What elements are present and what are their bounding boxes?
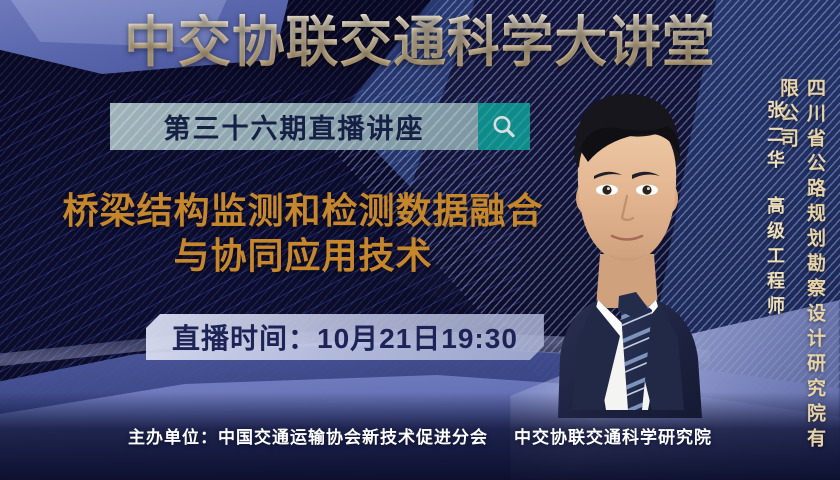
search-button[interactable] (478, 103, 530, 150)
episode-label: 第三十六期直播讲座 (164, 107, 425, 146)
speaker-role: 高级工程师 (762, 196, 788, 321)
broadcast-time-badge: 直播时间：10月21日19:30 (146, 314, 544, 360)
page-title: 中交协联交通科学大讲堂 (17, 14, 823, 72)
organizer-org-2: 中交协联交通科学研究院 (514, 428, 712, 447)
organizer-prefix: 主办单位： (128, 428, 218, 447)
broadcast-time-text: 直播时间：10月21日19:30 (172, 317, 518, 357)
organizer-footer: 主办单位：中国交通运输协会新技术促进分会中交协联交通科学研究院 (0, 423, 840, 448)
speaker-name: 张二华 (762, 100, 788, 175)
episode-search-bar[interactable]: 第三十六期直播讲座 (110, 103, 530, 150)
lecture-topic: 桥梁结构监测和检测数据融合 与协同应用技术 (38, 188, 568, 278)
topic-line-2: 与协同应用技术 (38, 233, 568, 278)
livestream-poster: 中交协联交通科学大讲堂 第三十六期直播讲座 桥梁结构监测和检测数据融合 与协同应… (0, 0, 840, 480)
search-icon (490, 113, 518, 141)
organizer-org-1: 中国交通运输协会新技术促进分会 (218, 428, 488, 447)
topic-line-1: 桥梁结构监测和检测数据融合 (62, 190, 543, 231)
episode-field[interactable]: 第三十六期直播讲座 (110, 103, 478, 150)
